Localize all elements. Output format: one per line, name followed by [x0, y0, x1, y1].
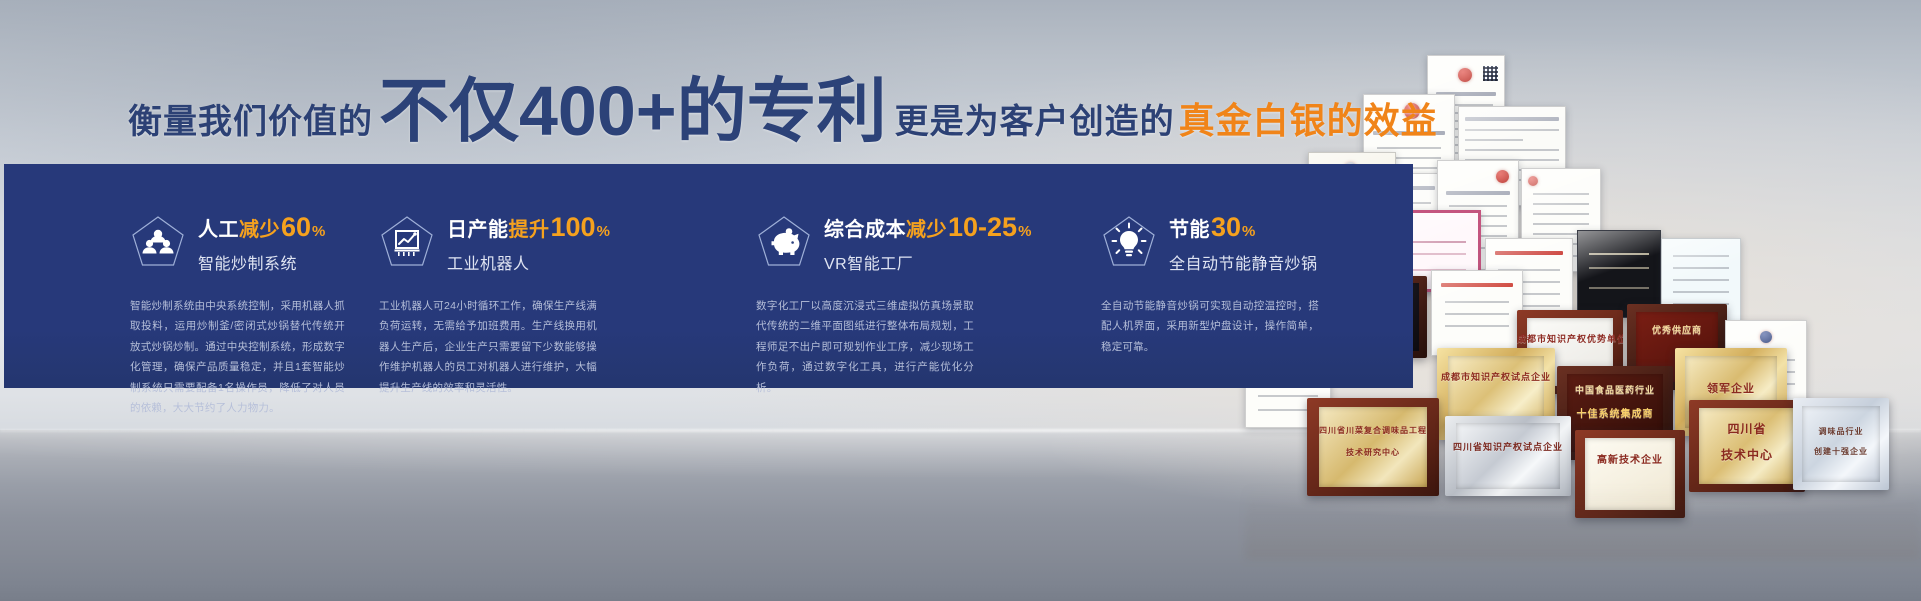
feature-subtitle: VR智能工厂: [824, 250, 1031, 274]
team-people-icon: [130, 214, 186, 270]
page-title: 衡量我们价值的 不仅400+的专利 更是为客户创造的 真金白银的效益: [128, 74, 1438, 144]
feature-card-header: 综合成本 减少 10-25 % VR智能工厂: [756, 212, 1101, 274]
feature-subtitle: 全自动节能静音炒锅: [1169, 250, 1318, 274]
feature-card-heading: 日产能 提升 100 % 工业机器人: [447, 212, 610, 274]
headline-accent: 真金白银的效益: [1179, 92, 1438, 144]
feature-title-label: 日产能: [447, 220, 509, 240]
feature-card-heading: 综合成本 减少 10-25 % VR智能工厂: [824, 212, 1031, 274]
feature-card[interactable]: 节能 30 % 全自动节能静音炒锅 全自动节能静音炒锅可实现自动控温控时，搭配人…: [1101, 164, 1413, 388]
feature-card-heading: 人工 减少 60 % 智能炒制系统: [198, 212, 325, 274]
feature-card[interactable]: 综合成本 减少 10-25 % VR智能工厂 数字化工厂以高度沉浸式三维虚拟仿真…: [746, 164, 1101, 388]
feature-title-highlight: 减少: [906, 220, 947, 240]
feature-title-number: 30: [1211, 214, 1241, 241]
certificate-reflection: [1245, 470, 1921, 560]
feature-title-unit: %: [312, 224, 325, 239]
feature-title-label: 节能: [1169, 220, 1210, 240]
feature-title-unit: %: [1242, 224, 1255, 239]
feature-title: 节能 30 %: [1169, 214, 1318, 241]
feature-card[interactable]: 日产能 提升 100 % 工业机器人 工业机器人可24小时循环工作，确保生产线满…: [364, 164, 746, 388]
feature-description: 数字化工厂以高度沉浸式三维虚拟仿真场景取代传统的二维平面图纸进行整体布局规划，工…: [756, 296, 974, 398]
headline-emphasis: 不仅400+的专利: [379, 76, 887, 146]
feature-description: 工业机器人可24小时循环工作，确保生产线满负荷运转，无需给予加班费用。生产线换用…: [379, 296, 597, 398]
feature-card-list: 人工 减少 60 % 智能炒制系统 智能炒制系统由中央系统控制，采用机器人抓取投…: [4, 164, 1413, 388]
feature-title: 综合成本 减少 10-25 %: [824, 214, 1031, 241]
feature-title: 日产能 提升 100 %: [447, 214, 610, 241]
feature-title: 人工 减少 60 %: [198, 214, 325, 241]
feature-title-unit: %: [1018, 224, 1031, 239]
piggy-bank-icon: [756, 214, 812, 270]
feature-title-number: 100: [551, 214, 596, 241]
banner-stage: 荣誉 成都市知识产权优势单位 优秀供应商: [0, 0, 1921, 601]
feature-description: 全自动节能静音炒锅可实现自动控温控时，搭配人机界面，采用新型炉盘设计，操作简单，…: [1101, 296, 1319, 357]
feature-title-label: 综合成本: [824, 220, 906, 240]
lightbulb-icon: [1101, 214, 1157, 270]
headline-middle: 更是为客户创造的: [895, 94, 1175, 143]
feature-description: 智能炒制系统由中央系统控制，采用机器人抓取投料，运用炒制釜/密闭式炒锅替代传统开…: [130, 296, 345, 419]
feature-subtitle: 智能炒制系统: [198, 250, 325, 274]
chart-board-icon: [379, 214, 435, 270]
headline-prefix: 衡量我们价值的: [128, 94, 373, 143]
feature-subtitle: 工业机器人: [447, 250, 610, 274]
feature-title-highlight: 减少: [239, 220, 280, 240]
feature-title-number: 60: [281, 214, 311, 241]
certificate-paper: [1431, 270, 1523, 356]
feature-card-header: 节能 30 % 全自动节能静音炒锅: [1101, 212, 1413, 274]
feature-card-heading: 节能 30 % 全自动节能静音炒锅: [1169, 212, 1318, 274]
feature-title-unit: %: [597, 224, 610, 239]
feature-title-label: 人工: [198, 220, 239, 240]
feature-card-header: 日产能 提升 100 % 工业机器人: [379, 212, 746, 274]
feature-card-header: 人工 减少 60 % 智能炒制系统: [130, 212, 364, 274]
feature-title-highlight: 提升: [509, 220, 550, 240]
feature-card[interactable]: 人工 减少 60 % 智能炒制系统 智能炒制系统由中央系统控制，采用机器人抓取投…: [4, 164, 364, 388]
feature-title-number: 10-25: [948, 214, 1017, 241]
